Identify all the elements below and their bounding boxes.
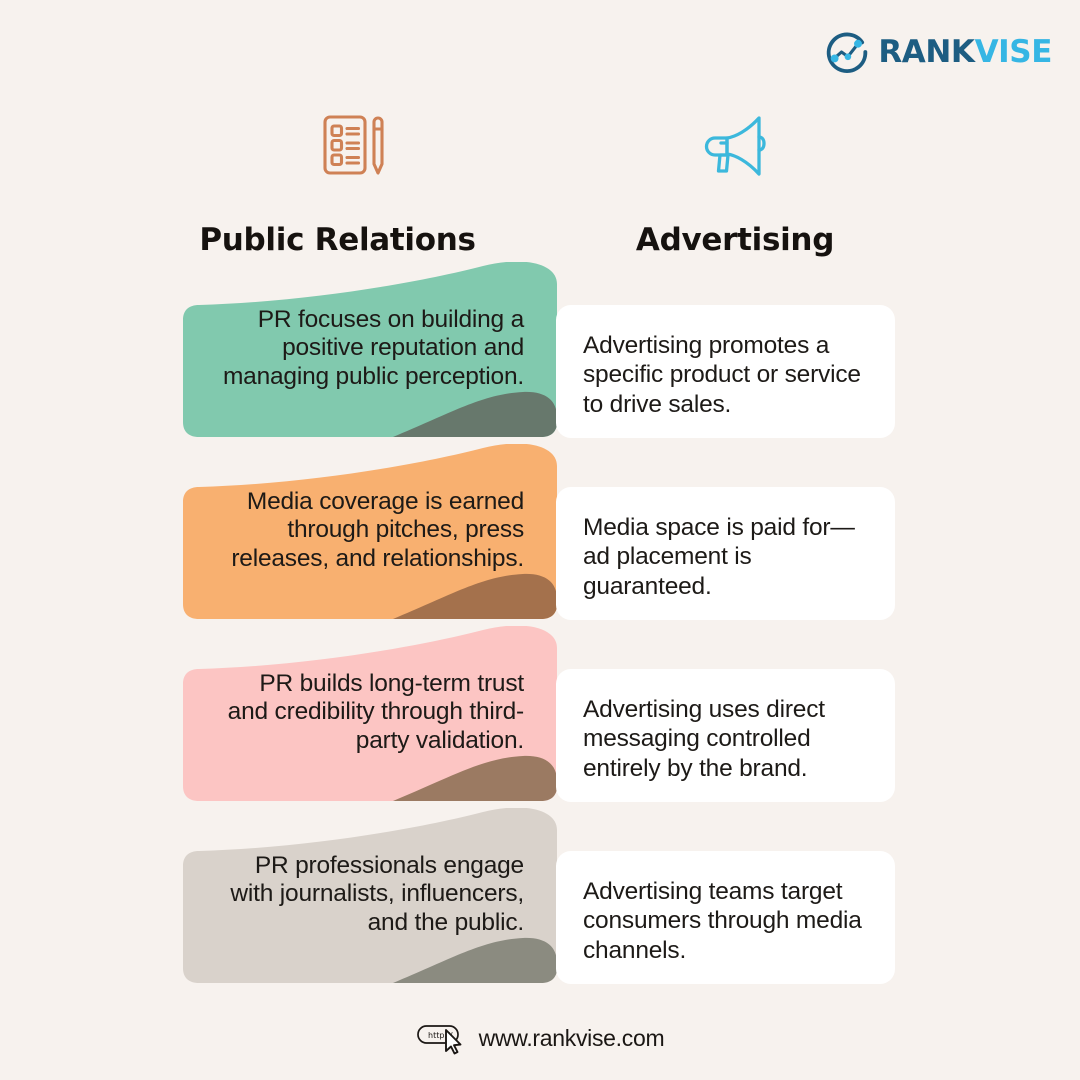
footer: http:// www.rankvise.com bbox=[0, 1018, 1080, 1058]
advertising-card: Advertising promotes a specific product … bbox=[556, 305, 895, 438]
advertising-statement-text: Advertising uses direct messaging contro… bbox=[583, 695, 877, 783]
brand-logo: RANKVISE bbox=[825, 30, 1052, 74]
advertising-icon-slot bbox=[670, 103, 800, 192]
column-icons bbox=[0, 103, 1080, 189]
browser-address-bar-cursor-icon[interactable]: http:// bbox=[416, 1018, 468, 1058]
advertising-card: Advertising teams target consumers throu… bbox=[556, 851, 895, 984]
column-title-public-relations: Public Relations bbox=[180, 222, 495, 258]
megaphone-icon bbox=[693, 103, 777, 187]
rankvise-chart-circle-icon bbox=[825, 30, 869, 74]
pr-blob-card: PR professionals engage with journalists… bbox=[183, 808, 557, 983]
pr-blob-card: PR builds long-term trust and credibilit… bbox=[183, 626, 557, 801]
pr-blob-card: PR focuses on building a positive reputa… bbox=[183, 262, 557, 437]
advertising-statement-text: Media space is paid for—ad placement is … bbox=[583, 513, 877, 601]
comparison-row: PR focuses on building a positive reputa… bbox=[0, 262, 1080, 444]
pr-blob-card: Media coverage is earned through pitches… bbox=[183, 444, 557, 619]
pr-icon-slot bbox=[290, 103, 420, 192]
column-title-advertising: Advertising bbox=[575, 222, 895, 258]
advertising-card: Advertising uses direct messaging contro… bbox=[556, 669, 895, 802]
footer-url[interactable]: www.rankvise.com bbox=[479, 1025, 665, 1052]
clipboard-checklist-pencil-icon bbox=[313, 103, 397, 187]
pr-statement-text: Media coverage is earned through pitches… bbox=[213, 488, 524, 573]
brand-wordmark-part2: VISE bbox=[975, 34, 1052, 70]
comparison-row: Media coverage is earned through pitches… bbox=[0, 444, 1080, 626]
advertising-statement-text: Advertising teams target consumers throu… bbox=[583, 877, 877, 965]
brand-wordmark-part1: RANK bbox=[878, 34, 974, 70]
pr-statement-text: PR builds long-term trust and credibilit… bbox=[213, 670, 524, 755]
advertising-card: Media space is paid for—ad placement is … bbox=[556, 487, 895, 620]
comparison-row: PR professionals engage with journalists… bbox=[0, 808, 1080, 990]
pr-statement-text: PR professionals engage with journalists… bbox=[213, 852, 524, 937]
advertising-statement-text: Advertising promotes a specific product … bbox=[583, 331, 877, 419]
comparison-row: PR builds long-term trust and credibilit… bbox=[0, 626, 1080, 808]
comparison-rows: PR focuses on building a positive reputa… bbox=[0, 262, 1080, 990]
brand-wordmark: RANKVISE bbox=[878, 37, 1052, 68]
pr-statement-text: PR focuses on building a positive reputa… bbox=[213, 306, 524, 391]
